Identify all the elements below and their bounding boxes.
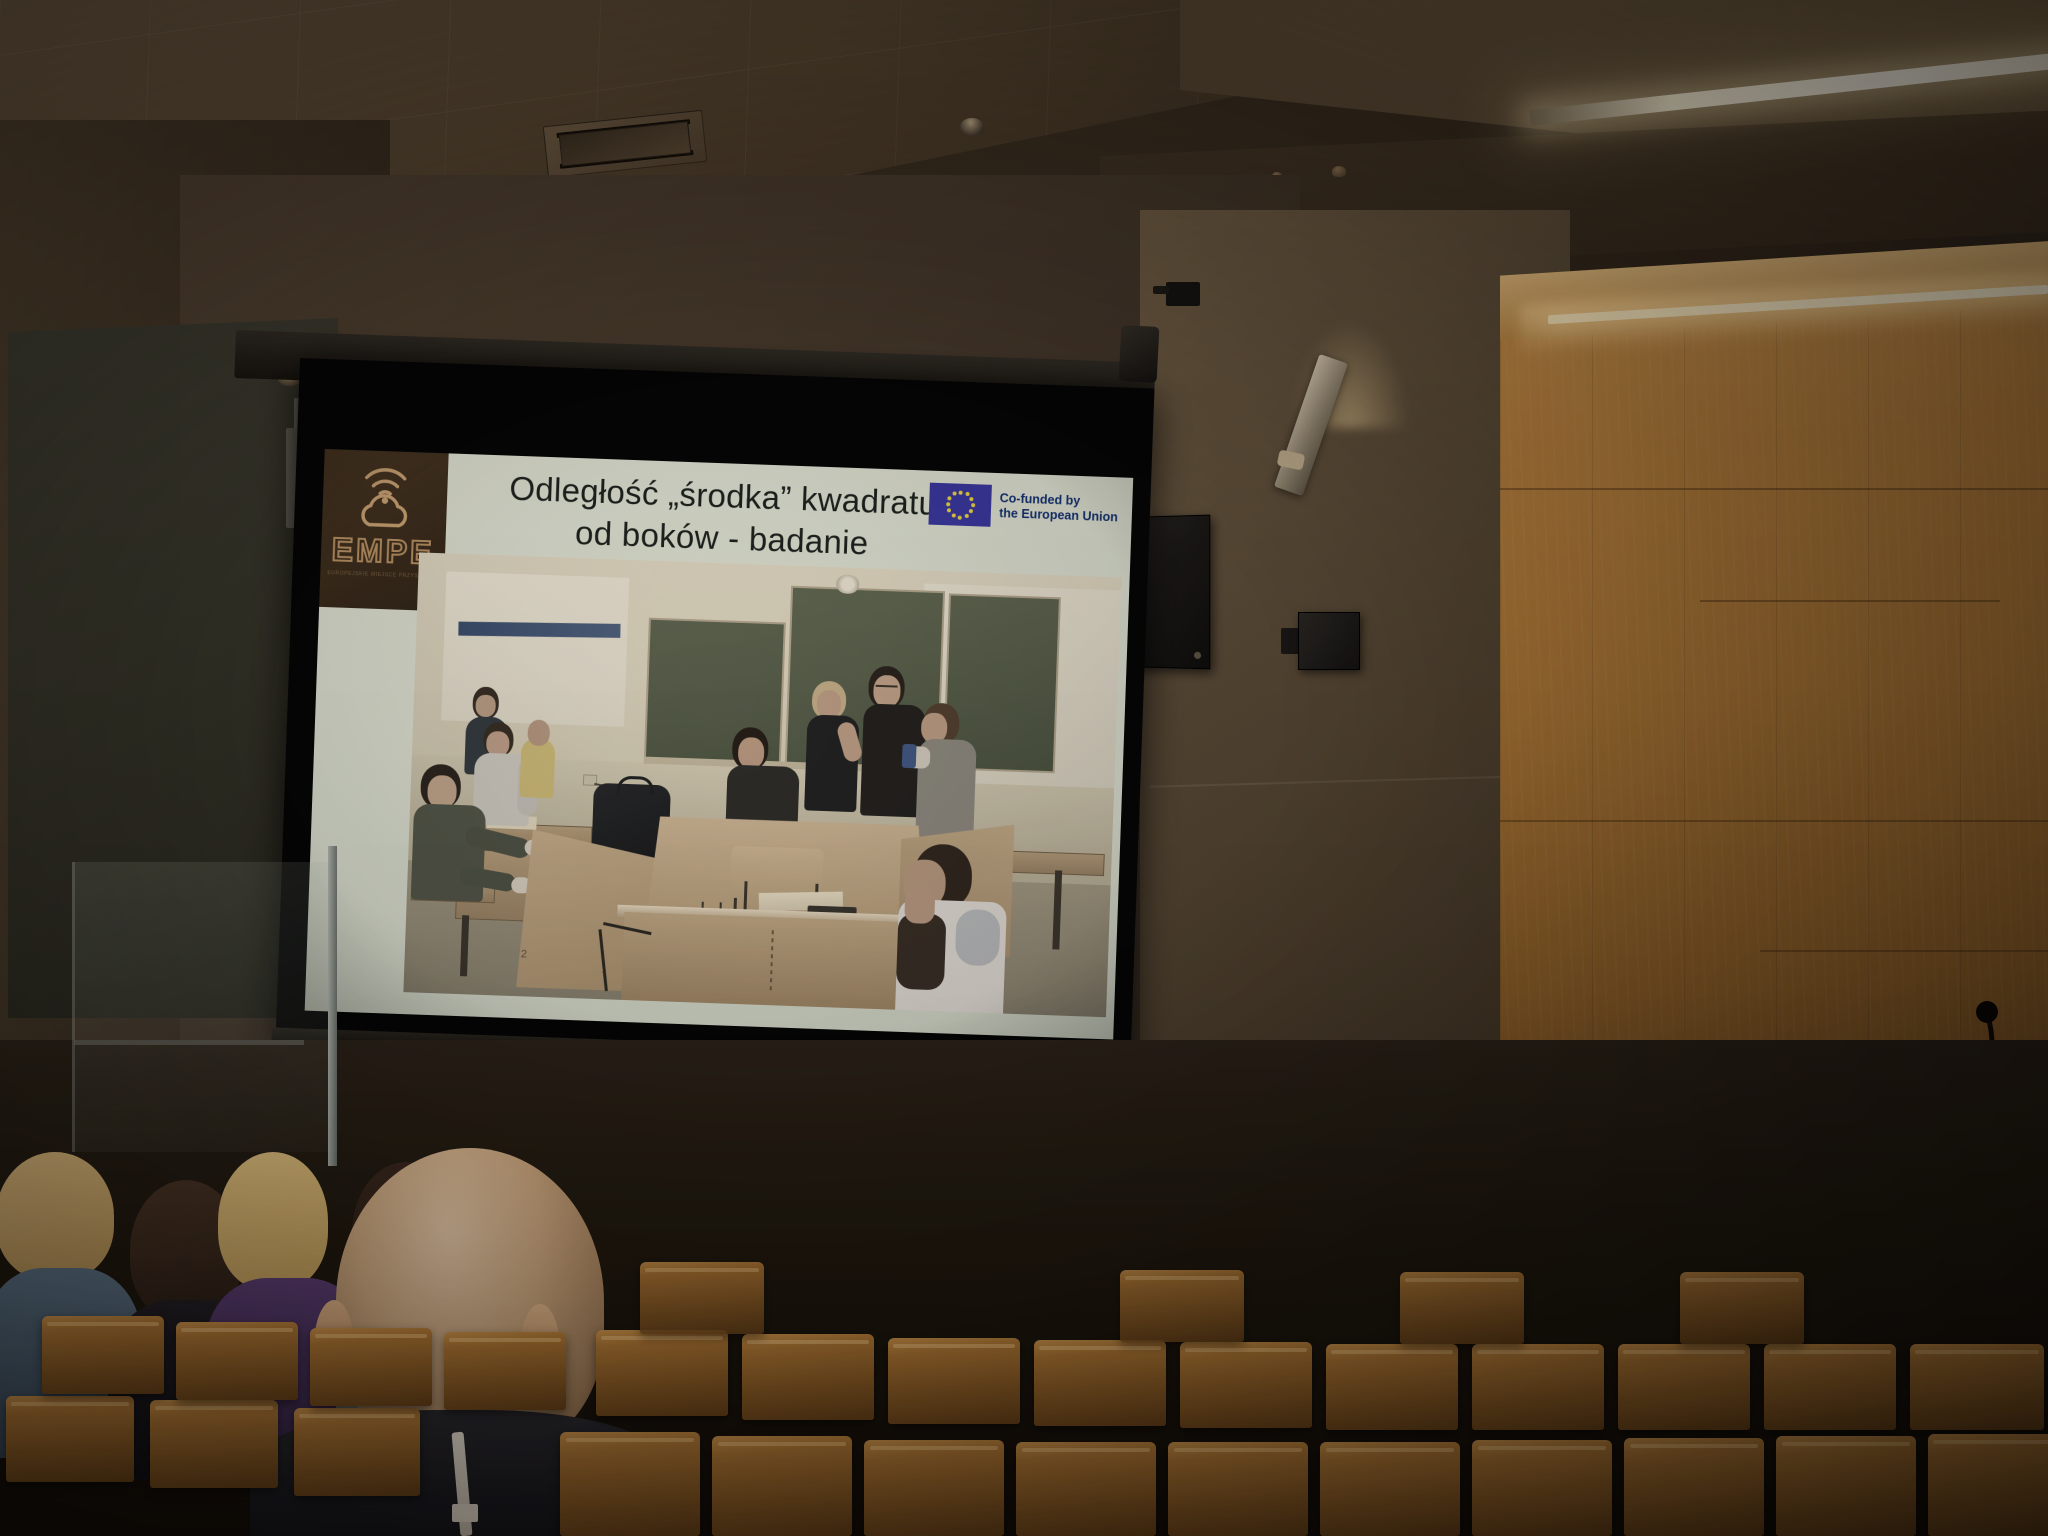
auditorium-seat[interactable] [560,1432,700,1536]
lecture-hall-scene: EMPE EUROPEJSKIE MIEJSCE PRZYSZŁOŚCI Odl… [0,0,2048,1536]
auditorium-seat[interactable] [1180,1342,1312,1428]
auditorium-seat[interactable] [1016,1442,1156,1536]
balustrade-rail [74,1040,304,1045]
eu-star-icon [959,490,963,494]
balustrade-post [328,846,337,1166]
auditorium-seat[interactable] [864,1440,1004,1536]
eu-star-icon [965,492,969,496]
cloud-wifi-icon [353,460,418,534]
slide-photo-classroom: 2 [403,552,1121,1017]
eu-star-icon [947,509,951,513]
auditorium-seat[interactable] [1472,1440,1612,1536]
auditorium-seat[interactable] [1764,1344,1896,1430]
auditorium-seat[interactable] [742,1334,874,1420]
auditorium-seat[interactable] [1618,1344,1750,1430]
eu-star-icon [964,514,968,518]
hoodie-hood [955,909,1001,967]
auditorium-seat[interactable] [1168,1442,1308,1536]
eu-flag-icon [929,483,992,527]
auditorium-seat[interactable] [6,1396,134,1482]
sprinkler-icon [1332,166,1346,177]
auditorium-seat[interactable] [1910,1344,2044,1430]
auditorium-seat[interactable] [640,1262,764,1334]
auditorium-seat[interactable] [1776,1436,1916,1536]
auditorium-seat[interactable] [1400,1272,1524,1344]
eu-cofunding-badge: Co-funded by the European Union [929,483,1119,532]
auditorium-seat[interactable] [1680,1272,1804,1344]
auditorium-seat[interactable] [1120,1270,1244,1342]
auditorium-seat[interactable] [1034,1340,1166,1426]
eu-badge-text: Co-funded by the European Union [999,491,1119,526]
auditorium-seat[interactable] [1320,1442,1460,1536]
screen-roller-end-cap [1119,325,1160,383]
screen-surface: EMPE EUROPEJSKIE MIEJSCE PRZYSZŁOŚCI Odl… [305,449,1134,1040]
lanyard-badge [452,1504,478,1522]
eu-star-icon [952,513,956,517]
eu-badge-line-2: the European Union [999,506,1118,525]
glass-balustrade [72,862,334,1152]
wall-camera-icon [1166,282,1200,306]
auditorium-seat[interactable] [444,1332,566,1410]
presentation-slide: EMPE EUROPEJSKIE MIEJSCE PRZYSZŁOŚCI Odl… [305,449,1134,1040]
eu-star-icon [971,503,975,507]
auditorium-seat[interactable] [1624,1438,1764,1536]
classroom-whiteboard-left [441,571,629,727]
eu-star-icon [952,492,956,496]
auditorium-seat[interactable] [1326,1344,1458,1430]
slide-title: Odległość „środka” kwadratu od boków - b… [471,466,974,568]
eu-star-icon [958,515,962,519]
auditorium-seat[interactable] [712,1436,852,1536]
whiteboard-blue-strip [459,622,621,638]
auditorium-seat[interactable] [1928,1434,2048,1536]
auditorium-seat[interactable] [176,1322,298,1400]
auditorium-seat[interactable] [888,1338,1020,1424]
dome-camera-icon [960,118,984,136]
box-marking: 2 [521,948,536,962]
auditorium-seat[interactable] [150,1400,278,1488]
eu-star-icon [948,496,952,500]
eu-star-icon [969,497,973,501]
small-speaker [1298,612,1360,670]
auditorium-seat[interactable] [310,1328,432,1406]
projection-screen[interactable]: EMPE EUROPEJSKIE MIEJSCE PRZYSZŁOŚCI Odl… [275,358,1154,1078]
eu-star-icon [946,502,950,506]
auditorium-seat[interactable] [1472,1344,1604,1430]
auditorium-seat[interactable] [596,1330,728,1416]
eu-star-icon [969,509,973,513]
auditorium-seat[interactable] [294,1408,420,1496]
auditorium-seat[interactable] [42,1316,164,1394]
